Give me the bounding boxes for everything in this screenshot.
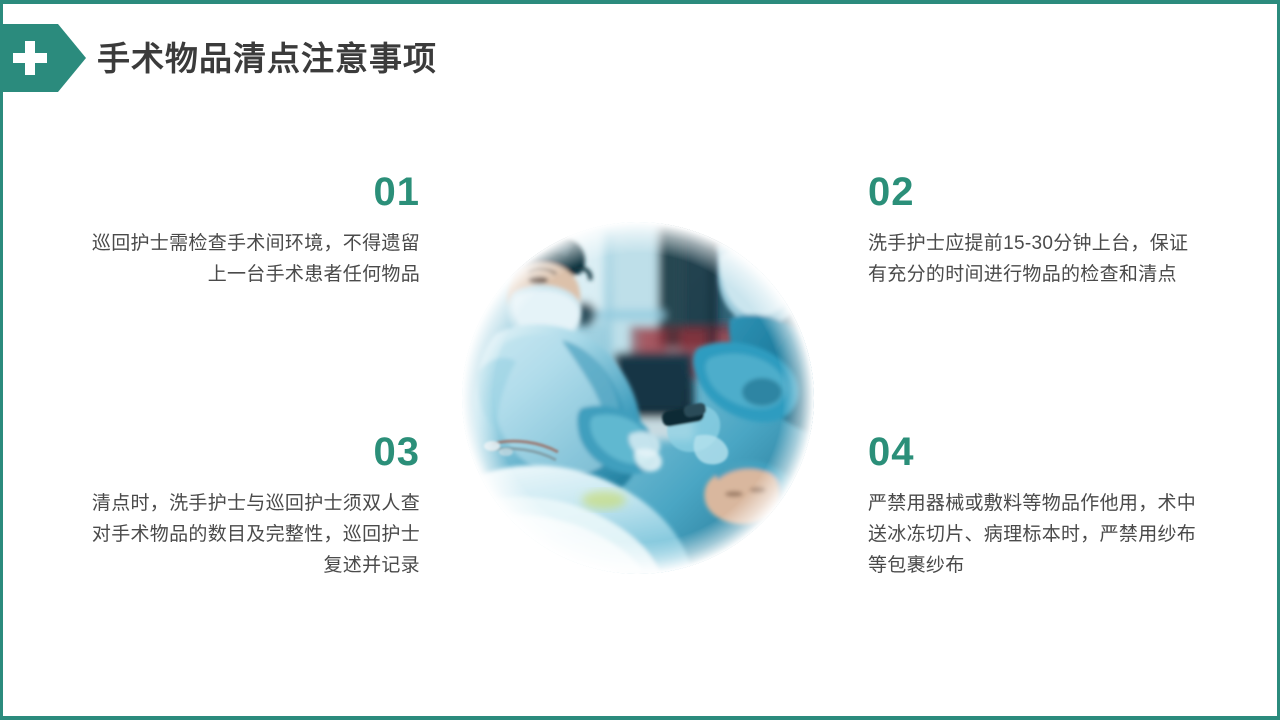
slide-header: 手术物品清点注意事项 (0, 24, 437, 92)
item-text: 清点时，洗手护士与巡回护士须双人查对手术物品的数目及完整性，巡回护士复述并记录 (90, 488, 420, 581)
item-number: 04 (868, 432, 1198, 472)
list-item: 01 巡回护士需检查手术间环境，不得遗留上一台手术患者任何物品 (90, 172, 420, 290)
list-item: 02 洗手护士应提前15-30分钟上台，保证有充分的时间进行物品的检查和清点 (868, 172, 1198, 290)
page-title: 手术物品清点注意事项 (97, 42, 437, 75)
item-number: 03 (90, 432, 420, 472)
content-area: 01 巡回护士需检查手术间环境，不得遗留上一台手术患者任何物品 02 洗手护士应… (0, 150, 1280, 670)
list-item: 04 严禁用器械或敷料等物品作他用，术中送冰冻切片、病理标本时，严禁用纱布等包裹… (868, 432, 1198, 581)
item-text: 巡回护士需检查手术间环境，不得遗留上一台手术患者任何物品 (90, 228, 420, 290)
plus-icon (13, 41, 47, 75)
item-number: 01 (90, 172, 420, 212)
presentation-slide: 手术物品清点注意事项 (0, 0, 1280, 720)
item-number: 02 (868, 172, 1198, 212)
item-text: 严禁用器械或敷料等物品作他用，术中送冰冻切片、病理标本时，严禁用纱布等包裹纱布 (868, 488, 1198, 581)
plus-icon-vertical-bar (25, 41, 35, 75)
badge-arrow-tip (58, 24, 86, 92)
item-text: 洗手护士应提前15-30分钟上台，保证有充分的时间进行物品的检查和清点 (868, 228, 1198, 290)
list-item: 03 清点时，洗手护士与巡回护士须双人查对手术物品的数目及完整性，巡回护士复述并… (90, 432, 420, 581)
title-badge-arrow (0, 24, 86, 92)
